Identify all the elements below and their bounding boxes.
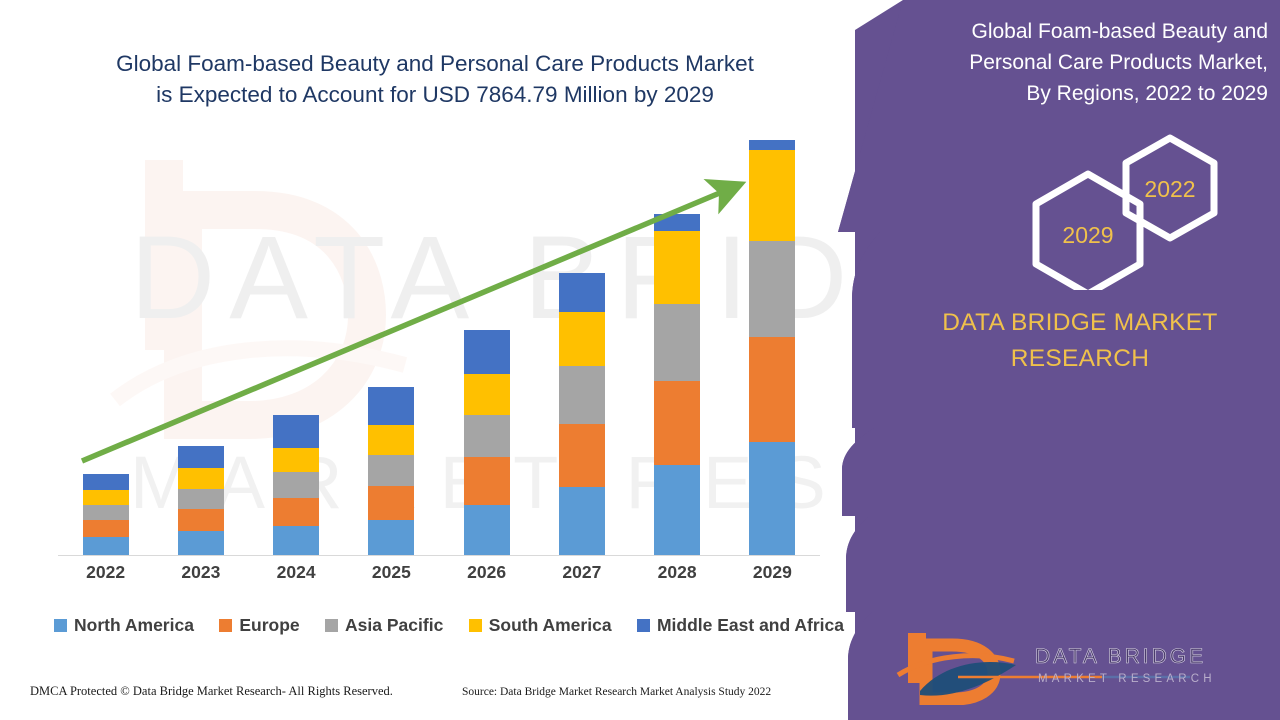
bar-column-2028 (630, 140, 725, 555)
logo-wordmark-primary: DATA BRIDGE (1035, 645, 1206, 669)
x-axis-label-2022: 2022 (58, 562, 153, 583)
legend-swatch-icon (469, 619, 482, 632)
bar-segment (654, 304, 700, 381)
brand-panel-title: Global Foam-based Beauty and Personal Ca… (900, 16, 1268, 109)
bar-segment (654, 381, 700, 465)
bar-segment (654, 465, 700, 555)
bar-column-2027 (534, 140, 629, 555)
chart-pane: DATA BRIDGE MARKET RESEARCH Global Foam-… (0, 0, 900, 720)
bar-segment (83, 474, 129, 490)
legend-swatch-icon (325, 619, 338, 632)
stacked-bar (559, 273, 605, 555)
bar-segment (368, 425, 414, 455)
legend-item-north-america[interactable]: North America (54, 615, 194, 636)
legend-label: Middle East and Africa (657, 615, 844, 636)
bar-column-2029 (725, 140, 820, 555)
bar-segment (559, 424, 605, 487)
bar-segment (464, 457, 510, 504)
stacked-bar (83, 474, 129, 555)
x-axis-label-2028: 2028 (630, 562, 725, 583)
bar-segment (368, 455, 414, 486)
x-axis-line (58, 555, 820, 556)
bar-segment (654, 214, 700, 231)
bar-segment (749, 140, 795, 150)
page-title: Global Foam-based Beauty and Personal Ca… (40, 48, 830, 110)
bar-column-2025 (344, 140, 439, 555)
stacked-bar (749, 140, 795, 555)
x-axis-labels: 20222023202420252026202720282029 (58, 562, 820, 583)
brand-name: DATA BRIDGE MARKET RESEARCH (890, 305, 1270, 377)
bar-segment (464, 374, 510, 415)
x-axis-label-2025: 2025 (344, 562, 439, 583)
legend-swatch-icon (637, 619, 650, 632)
x-axis-label-2023: 2023 (153, 562, 248, 583)
legend-swatch-icon (54, 619, 67, 632)
bar-segment (83, 505, 129, 520)
infographic-root: DATA BRIDGE MARKET RESEARCH Global Foam-… (0, 0, 1280, 720)
brand-name-line2: RESEARCH (890, 341, 1270, 377)
bar-segment (273, 415, 319, 448)
stacked-bar (464, 330, 510, 555)
bar-segment (178, 468, 224, 488)
bar-segment (273, 448, 319, 473)
hexagon-badges: 2022 2029 (970, 130, 1270, 290)
x-axis-label-2024: 2024 (249, 562, 344, 583)
page-title-line1: Global Foam-based Beauty and Personal Ca… (40, 48, 830, 79)
x-axis-label-2026: 2026 (439, 562, 534, 583)
bar-segment (559, 487, 605, 555)
brand-panel-title-line2: Personal Care Products Market, (900, 47, 1268, 78)
brand-panel-title-line1: Global Foam-based Beauty and (900, 16, 1268, 47)
brand-name-line1: DATA BRIDGE MARKET (890, 305, 1270, 341)
brand-panel-title-line3: By Regions, 2022 to 2029 (900, 78, 1268, 109)
bar-segment (464, 415, 510, 458)
x-axis-label-2027: 2027 (534, 562, 629, 583)
bar-segment (178, 509, 224, 532)
hexagon-outlines-icon (970, 130, 1270, 290)
stacked-bar (273, 415, 319, 555)
legend-item-europe[interactable]: Europe (219, 615, 299, 636)
bar-segment (83, 537, 129, 555)
logo-wordmark-secondary: MARKET RESEARCH (1038, 673, 1216, 685)
bar-segment (368, 486, 414, 519)
legend-label: North America (74, 615, 194, 636)
legend-item-middle-east-and-africa[interactable]: Middle East and Africa (637, 615, 844, 636)
bar-segment (464, 330, 510, 374)
bar-segment (654, 231, 700, 304)
footer-copyright: DMCA Protected © Data Bridge Market Rese… (30, 684, 393, 699)
stacked-bar (654, 214, 700, 555)
hexagon-2022-label: 2022 (1126, 176, 1214, 203)
legend-item-south-america[interactable]: South America (469, 615, 612, 636)
bar-segment (273, 472, 319, 498)
bar-column-2024 (249, 140, 344, 555)
brand-panel: Global Foam-based Beauty and Personal Ca… (890, 0, 1280, 720)
bar-segment (559, 273, 605, 312)
bar-segment (83, 490, 129, 505)
bar-segment (83, 520, 129, 537)
bar-column-2022 (58, 140, 153, 555)
bar-column-2026 (439, 140, 534, 555)
page-title-line2: is Expected to Account for USD 7864.79 M… (40, 79, 830, 110)
bar-chart (58, 140, 820, 556)
bar-segment (559, 366, 605, 424)
bar-column-2023 (153, 140, 248, 555)
bar-segment (178, 489, 224, 509)
bar-segment (178, 446, 224, 469)
footer-source: Source: Data Bridge Market Research Mark… (462, 686, 771, 698)
legend-label: Asia Pacific (345, 615, 443, 636)
legend-label: South America (489, 615, 612, 636)
bar-group (58, 140, 820, 555)
x-axis-label-2029: 2029 (725, 562, 820, 583)
bar-segment (368, 520, 414, 555)
legend-item-asia-pacific[interactable]: Asia Pacific (325, 615, 443, 636)
bar-segment (273, 526, 319, 555)
bar-segment (749, 241, 795, 338)
bar-segment (559, 312, 605, 367)
bar-segment (749, 337, 795, 442)
bar-segment (273, 498, 319, 526)
hexagon-2029-label: 2029 (1036, 222, 1140, 249)
chart-legend: North AmericaEuropeAsia PacificSouth Ame… (54, 615, 844, 636)
bar-segment (464, 505, 510, 555)
bar-segment (749, 442, 795, 555)
stacked-bar (178, 446, 224, 555)
stacked-bar (368, 387, 414, 555)
legend-swatch-icon (219, 619, 232, 632)
bar-segment (749, 150, 795, 241)
bar-segment (368, 387, 414, 426)
bar-segment (178, 531, 224, 555)
legend-label: Europe (239, 615, 299, 636)
